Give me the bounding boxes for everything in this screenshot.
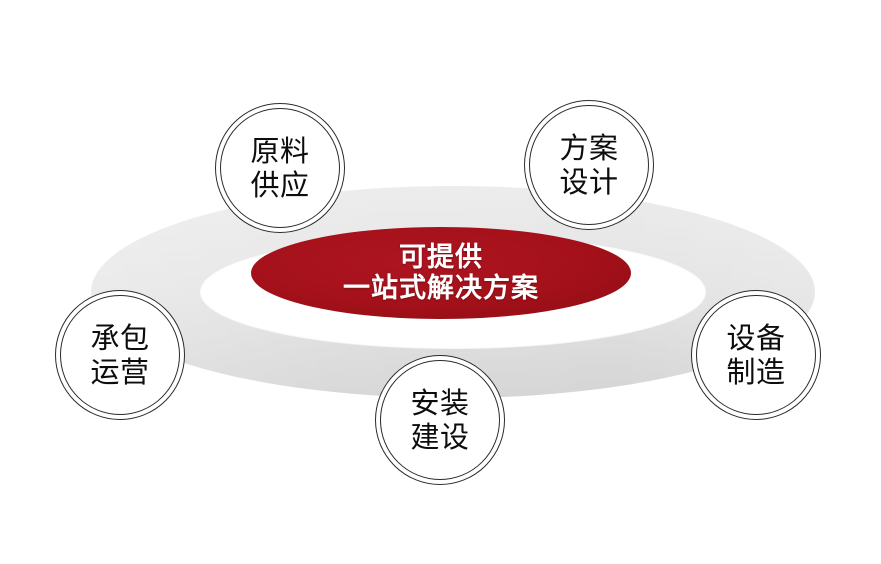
node-installation-construction[interactable]: 安装 建设 [375,355,505,485]
node-label-line1: 原料 [250,134,309,168]
center-text-line1: 可提供 [343,242,539,273]
node-label: 原料 供应 [250,100,309,237]
node-label: 方案 设计 [559,97,618,234]
node-label-line1: 承包 [90,321,149,355]
node-label: 设备 制造 [726,287,785,424]
node-label-line2: 建设 [410,420,469,454]
node-raw-material-supply[interactable]: 原料 供应 [215,103,345,233]
center-ellipse[interactable]: 可提供 一站式解决方案 [251,227,631,319]
node-label-line2: 运营 [90,355,149,389]
diagram-canvas: 可提供 一站式解决方案 原料 供应 方案 设计 承包 运营 设备 制造 [0,0,881,564]
node-label-line1: 设备 [726,321,785,355]
node-equipment-manufacture[interactable]: 设备 制造 [691,290,821,420]
node-label: 安装 建设 [410,352,469,489]
node-label-line2: 制造 [726,355,785,389]
node-label-line1: 方案 [559,131,618,165]
node-label-line2: 供应 [250,168,309,202]
center-ellipse-text: 可提供 一站式解决方案 [343,242,539,305]
node-label-line2: 设计 [559,165,618,199]
node-label-line1: 安装 [410,386,469,420]
node-contract-operation[interactable]: 承包 运营 [55,290,185,420]
center-text-line2: 一站式解决方案 [343,273,539,304]
node-scheme-design[interactable]: 方案 设计 [524,100,654,230]
node-label: 承包 运营 [90,287,149,424]
